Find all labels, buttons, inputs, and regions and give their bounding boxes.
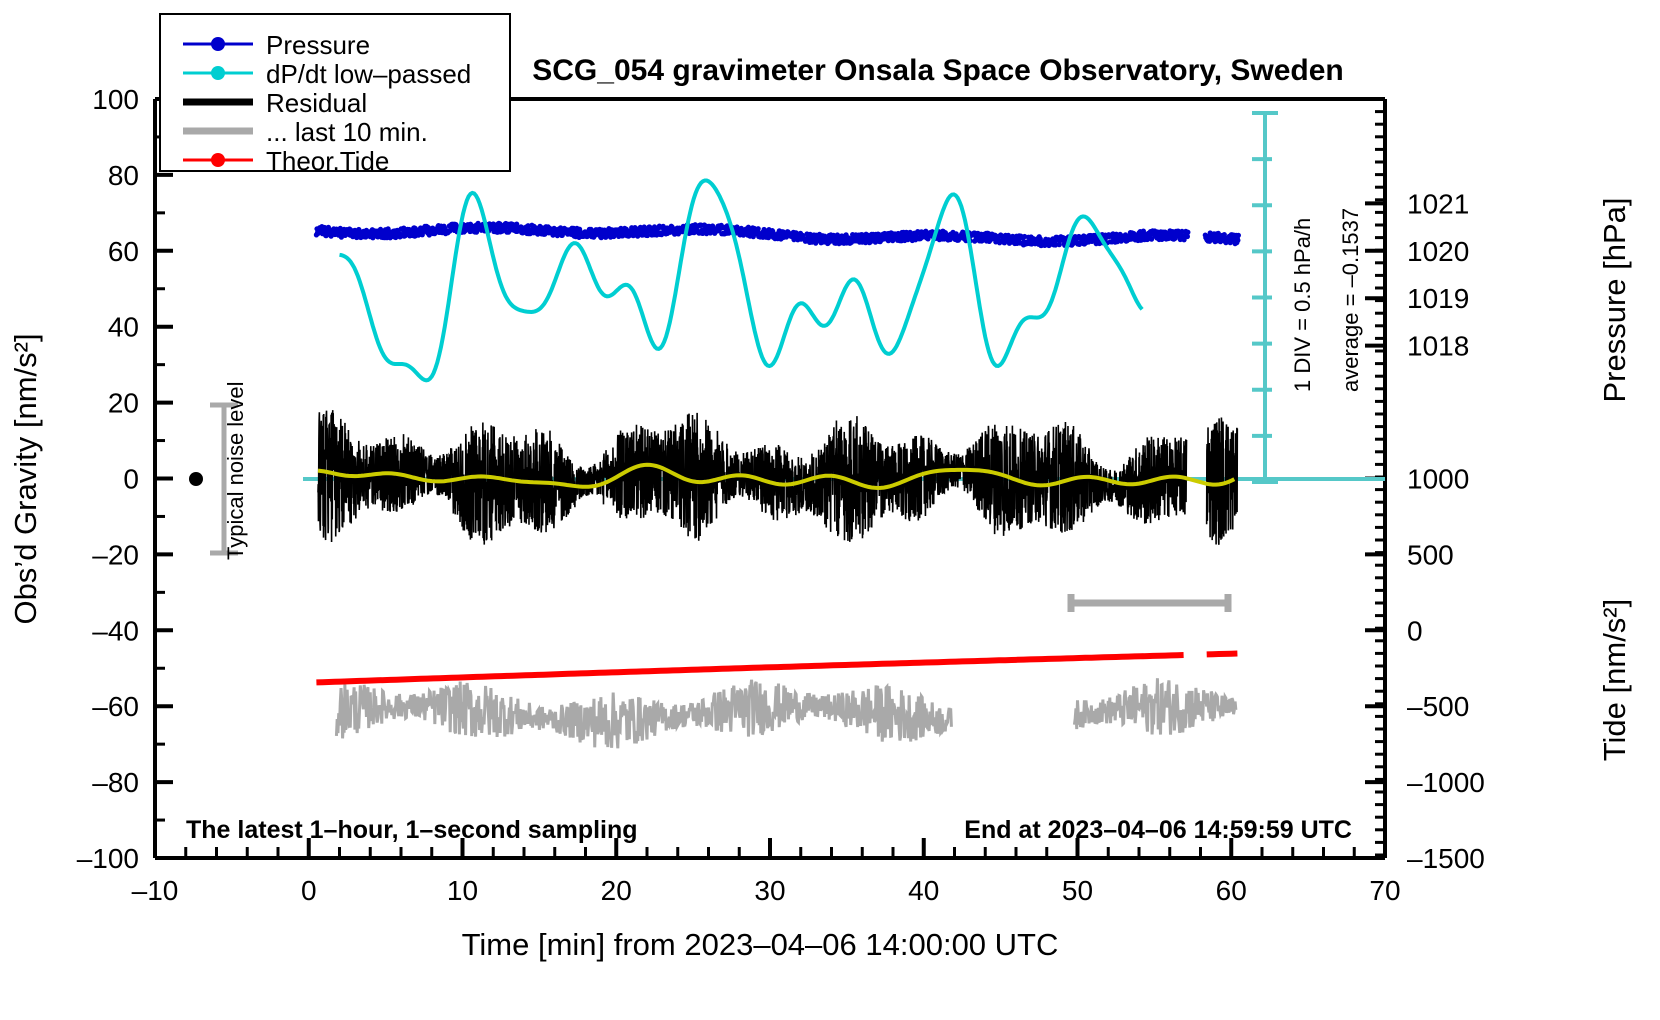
legend-label: Pressure bbox=[266, 30, 370, 60]
x-tick-label: 30 bbox=[754, 875, 785, 906]
y-tick-label: 40 bbox=[108, 312, 139, 343]
x-axis-label: Time [min] from 2023–04–06 14:00:00 UTC bbox=[462, 927, 1059, 962]
y-tick-label: –100 bbox=[77, 843, 139, 874]
tide-tick-label: 500 bbox=[1407, 539, 1454, 570]
legend-marker bbox=[211, 66, 225, 80]
typical-noise-level-label: Typical noise level bbox=[223, 381, 248, 560]
x-tick-label: –10 bbox=[132, 875, 179, 906]
legend: PressuredP/dt low–passedResidual... last… bbox=[160, 14, 510, 176]
x-tick-label: 70 bbox=[1369, 875, 1400, 906]
tide-tick-label: –500 bbox=[1407, 691, 1469, 722]
y-tick-label: –80 bbox=[92, 767, 139, 798]
x-tick-label: 10 bbox=[447, 875, 478, 906]
x-tick-label: 50 bbox=[1062, 875, 1093, 906]
y-tick-label: 60 bbox=[108, 236, 139, 267]
legend-label: ... last 10 min. bbox=[266, 117, 428, 147]
tide-tick-label: –1500 bbox=[1407, 843, 1485, 874]
x-tick-label: 60 bbox=[1216, 875, 1247, 906]
pressure-tick-label: 1020 bbox=[1407, 236, 1469, 267]
pressure-tick-label: 1019 bbox=[1407, 283, 1469, 314]
tide-tick-label: 0 bbox=[1407, 615, 1423, 646]
x-tick-label: 20 bbox=[601, 875, 632, 906]
tide-tick-label: 1000 bbox=[1407, 464, 1469, 495]
legend-label: dP/dt low–passed bbox=[266, 59, 471, 89]
average-label: average = –0.1537 bbox=[1338, 208, 1363, 392]
legend-label: Residual bbox=[266, 88, 367, 118]
legend-marker bbox=[211, 37, 225, 51]
bottom-left-annotation: The latest 1–hour, 1–second sampling bbox=[186, 816, 638, 844]
gravimeter-chart: –100–80–60–40–20020406080100 –1001020304… bbox=[0, 0, 1660, 1020]
y-tick-label: 80 bbox=[108, 160, 139, 191]
y-axis-label-pressure: Pressure [hPa] bbox=[1597, 197, 1632, 402]
y-axis-label-left: Obs’d Gravity [nm/s²] bbox=[8, 333, 43, 624]
y-tick-label: –60 bbox=[92, 691, 139, 722]
tide-tick-label: –1000 bbox=[1407, 767, 1485, 798]
y-tick-label: –40 bbox=[92, 615, 139, 646]
x-tick-label: 40 bbox=[908, 875, 939, 906]
pressure-tick-label: 1021 bbox=[1407, 188, 1469, 219]
legend-label: Theor.Tide bbox=[266, 146, 389, 176]
pressure-tick-label: 1018 bbox=[1407, 331, 1469, 362]
chart-title: SCG_054 gravimeter Onsala Space Observat… bbox=[532, 54, 1344, 87]
div-scale-label: 1 DIV = 0.5 hPa/h bbox=[1290, 218, 1315, 392]
y-tick-label: 0 bbox=[123, 464, 139, 495]
y-tick-label: 100 bbox=[92, 84, 139, 115]
series-theoretical-tide-tail bbox=[1207, 654, 1238, 655]
y-tick-label: 20 bbox=[108, 388, 139, 419]
y-axis-label-tide: Tide [nm/s²] bbox=[1597, 599, 1632, 762]
legend-marker bbox=[211, 153, 225, 167]
chart-page: –100–80–60–40–20020406080100 –1001020304… bbox=[0, 0, 1660, 1020]
x-tick-label: 0 bbox=[301, 875, 317, 906]
bottom-right-annotation: End at 2023–04–06 14:59:59 UTC bbox=[964, 816, 1352, 844]
y-tick-label: –20 bbox=[92, 539, 139, 570]
